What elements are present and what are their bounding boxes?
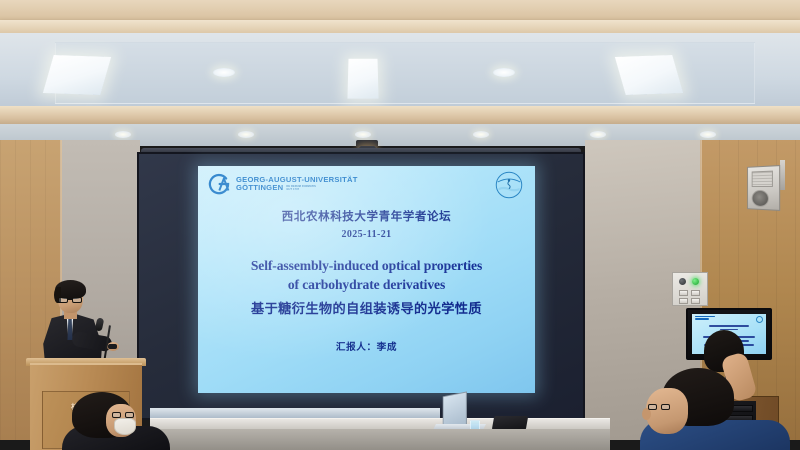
conference-room-photo: GEORG-AUGUST-UNIVERSITÄT GÖTTINGEN DE RE… [0, 0, 800, 450]
front-table-apron [150, 429, 610, 450]
university-logo: GEORG-AUGUST-UNIVERSITÄT GÖTTINGEN DE RE… [206, 172, 358, 196]
monitor-emblem-icon [756, 316, 763, 323]
face-mask-icon [114, 418, 136, 435]
speaker-bracket [780, 160, 785, 190]
soffit-downlight-icon [473, 131, 489, 138]
soffit-downlight-icon [700, 131, 716, 138]
slide-speaker: 汇报人：李成 [198, 339, 535, 353]
speaker-grill [752, 171, 773, 187]
slide-date: 2025-11-21 [198, 229, 535, 240]
laptop-screen[interactable] [443, 391, 467, 426]
university-logo-wordmark: GEORG-AUGUST-UNIVERSITÄT GÖTTINGEN DE RE… [236, 176, 358, 191]
logo-subline-2: GUT 1737 [286, 188, 316, 191]
presenter-glasses-icon [58, 297, 84, 304]
panel-light-left-icon [43, 55, 111, 95]
soffit-downlight-icon [590, 131, 606, 138]
monitor-logo-icon [695, 316, 717, 321]
slide-title-cn: 基于糖衍生物的自组装诱导的光学性质 [198, 298, 535, 317]
soffit-downlight-icon [238, 131, 254, 138]
logo-line-2: GÖTTINGEN DE RERUM FORMATIS GUT 1737 [236, 184, 358, 192]
conference-phone-icon[interactable] [492, 416, 528, 430]
wall-speaker-icon [747, 165, 780, 211]
logo-subline-group: DE RERUM FORMATIS GUT 1737 [286, 185, 316, 191]
slide-forum-title: 西北农林科技大学青年学者论坛 [198, 208, 535, 224]
wall-control-panel[interactable] [672, 272, 708, 306]
ga-monogram-icon [206, 172, 232, 196]
panel-light-right-icon [615, 55, 683, 95]
presentation-clicker-icon[interactable] [108, 344, 117, 349]
glasses-lens-left [58, 297, 68, 303]
soffit-downlight-icon [355, 131, 371, 138]
soffit-downlight-icon [115, 131, 131, 138]
glasses-lens-left [648, 404, 657, 410]
monitor-text-line [709, 325, 749, 327]
control-button[interactable] [691, 290, 700, 296]
institute-emblem-icon [493, 170, 525, 200]
slide-title-en: Self-assembly-induced optical properties… [198, 256, 535, 295]
glasses-lens-right [661, 404, 670, 410]
control-button[interactable] [679, 298, 688, 304]
projected-slide: GEORG-AUGUST-UNIVERSITÄT GÖTTINGEN DE RE… [198, 166, 535, 393]
control-button[interactable] [679, 290, 688, 296]
slide-text-block: 西北农林科技大学青年学者论坛 2025-11-21 Self-assembly-… [198, 208, 535, 353]
audience-face [646, 388, 688, 434]
power-indicator-icon [692, 278, 699, 285]
audience-glasses-icon [648, 404, 672, 410]
slide-title-en-line1: Self-assembly-induced optical properties [198, 256, 535, 275]
logo-line-2-text: GÖTTINGEN [236, 184, 283, 192]
speaker-cone [752, 190, 769, 207]
audience-member-blue-jacket [640, 368, 790, 450]
glasses-lens-right [72, 297, 82, 303]
indicator-off-icon [679, 278, 686, 285]
slide-title-en-line2: of carbohydrate derivatives [198, 275, 535, 294]
downlight-icon [493, 68, 515, 77]
panel-light-centre-icon [347, 59, 378, 99]
downlight-icon [213, 68, 235, 77]
audience-member-masked [62, 392, 170, 450]
control-button[interactable] [691, 298, 700, 304]
